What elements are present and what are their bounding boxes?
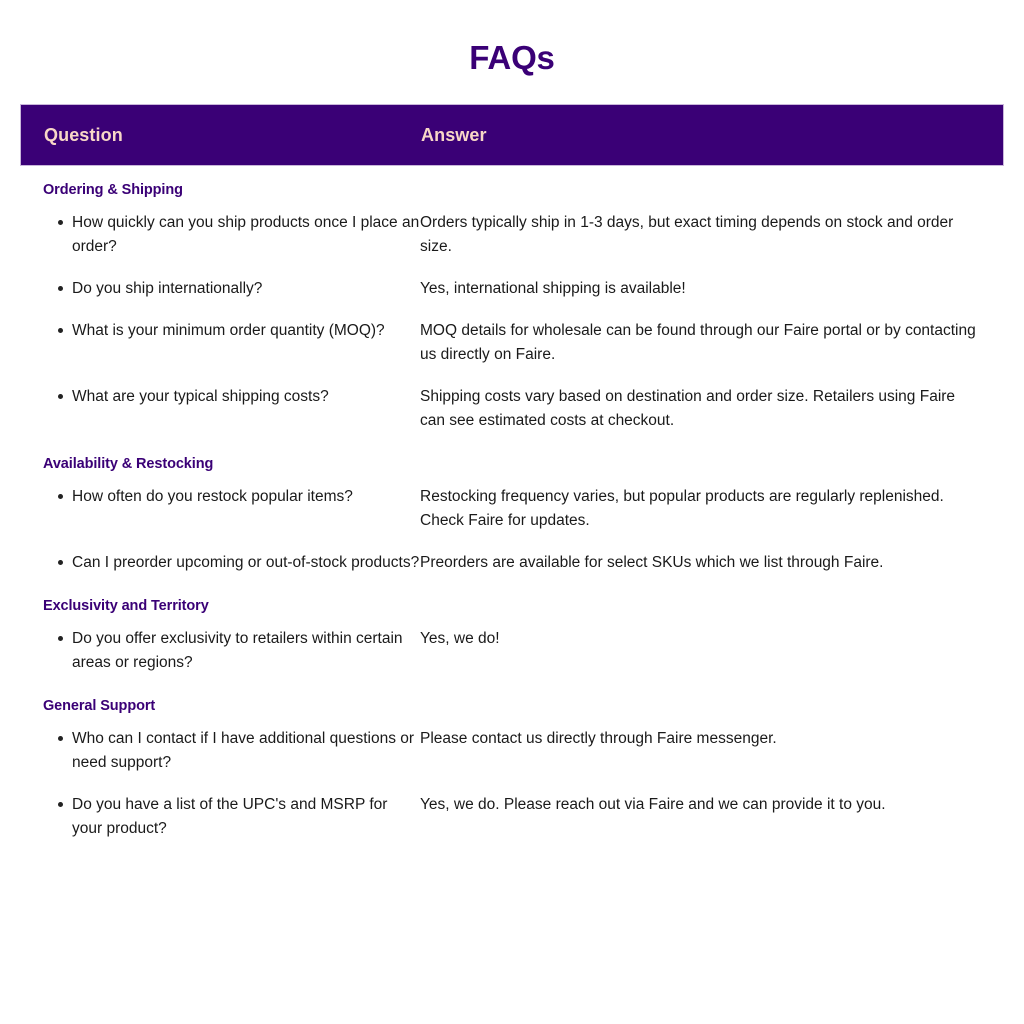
question-cell: What are your typical shipping costs? xyxy=(20,385,420,409)
question-cell: Do you offer exclusivity to retailers wi… xyxy=(20,627,420,675)
faq-page: FAQs Question Answer Ordering & Shipping… xyxy=(0,0,1024,1024)
table-header-row: Question Answer xyxy=(20,104,1004,166)
answer-cell: Shipping costs vary based on destination… xyxy=(420,385,1004,433)
section-title: Ordering & Shipping xyxy=(20,182,1004,198)
question-text: How quickly can you ship products once I… xyxy=(72,211,420,259)
answer-cell: Yes, we do! xyxy=(420,627,1004,651)
bullet-icon xyxy=(58,494,63,499)
section-title: General Support xyxy=(20,698,1004,714)
question-cell: How quickly can you ship products once I… xyxy=(20,211,420,259)
answer-text: Preorders are available for select SKUs … xyxy=(420,551,982,575)
faq-table: Question Answer Ordering & ShippingHow q… xyxy=(20,104,1004,850)
table-row: What is your minimum order quantity (MOQ… xyxy=(20,310,1004,376)
question-text: What are your typical shipping costs? xyxy=(72,385,420,409)
answer-text: Please contact us directly through Faire… xyxy=(420,727,982,751)
question-text: Do you ship internationally? xyxy=(72,277,420,301)
bullet-icon xyxy=(58,802,63,807)
section-title: Availability & Restocking xyxy=(20,456,1004,472)
answer-cell: MOQ details for wholesale can be found t… xyxy=(420,319,1004,367)
answer-text: Orders typically ship in 1-3 days, but e… xyxy=(420,211,982,259)
bullet-icon xyxy=(58,220,63,225)
question-text: Do you offer exclusivity to retailers wi… xyxy=(72,627,420,675)
table-row: What are your typical shipping costs?Shi… xyxy=(20,376,1004,442)
table-row: Can I preorder upcoming or out-of-stock … xyxy=(20,542,1004,584)
answer-text: Yes, we do. Please reach out via Faire a… xyxy=(420,793,982,817)
bullet-icon xyxy=(58,328,63,333)
section-title: Exclusivity and Territory xyxy=(20,598,1004,614)
question-cell: Who can I contact if I have additional q… xyxy=(20,727,420,775)
answer-cell: Restocking frequency varies, but popular… xyxy=(420,485,1004,533)
bullet-icon xyxy=(58,394,63,399)
question-text: How often do you restock popular items? xyxy=(72,485,420,509)
table-row: Do you ship internationally?Yes, interna… xyxy=(20,268,1004,310)
table-body: Ordering & ShippingHow quickly can you s… xyxy=(20,166,1004,850)
column-header-answer: Answer xyxy=(421,125,1003,146)
faq-section: Ordering & ShippingHow quickly can you s… xyxy=(20,182,1004,442)
answer-cell: Please contact us directly through Faire… xyxy=(420,727,1004,751)
answer-text: Yes, international shipping is available… xyxy=(420,277,982,301)
answer-text: MOQ details for wholesale can be found t… xyxy=(420,319,982,367)
page-title: FAQs xyxy=(0,0,1024,76)
question-text: Who can I contact if I have additional q… xyxy=(72,727,420,775)
question-cell: Do you have a list of the UPC's and MSRP… xyxy=(20,793,420,841)
answer-text: Yes, we do! xyxy=(420,627,982,651)
table-row: Do you have a list of the UPC's and MSRP… xyxy=(20,784,1004,850)
question-cell: Do you ship internationally? xyxy=(20,277,420,301)
question-text: What is your minimum order quantity (MOQ… xyxy=(72,319,420,343)
bullet-icon xyxy=(58,286,63,291)
answer-text: Shipping costs vary based on destination… xyxy=(420,385,982,433)
question-cell: Can I preorder upcoming or out-of-stock … xyxy=(20,551,420,575)
table-row: Do you offer exclusivity to retailers wi… xyxy=(20,618,1004,684)
question-cell: How often do you restock popular items? xyxy=(20,485,420,509)
column-header-question: Question xyxy=(21,125,421,146)
question-text: Do you have a list of the UPC's and MSRP… xyxy=(72,793,420,841)
bullet-icon xyxy=(58,560,63,565)
bullet-icon xyxy=(58,736,63,741)
answer-cell: Orders typically ship in 1-3 days, but e… xyxy=(420,211,1004,259)
answer-cell: Preorders are available for select SKUs … xyxy=(420,551,1004,575)
faq-section: Exclusivity and TerritoryDo you offer ex… xyxy=(20,598,1004,684)
answer-text: Restocking frequency varies, but popular… xyxy=(420,485,982,533)
faq-section: Availability & RestockingHow often do yo… xyxy=(20,456,1004,584)
bullet-icon xyxy=(58,636,63,641)
question-cell: What is your minimum order quantity (MOQ… xyxy=(20,319,420,343)
question-text: Can I preorder upcoming or out-of-stock … xyxy=(72,551,420,575)
table-row: Who can I contact if I have additional q… xyxy=(20,718,1004,784)
answer-cell: Yes, international shipping is available… xyxy=(420,277,1004,301)
answer-cell: Yes, we do. Please reach out via Faire a… xyxy=(420,793,1004,817)
table-row: How often do you restock popular items?R… xyxy=(20,476,1004,542)
faq-section: General SupportWho can I contact if I ha… xyxy=(20,698,1004,850)
table-row: How quickly can you ship products once I… xyxy=(20,202,1004,268)
